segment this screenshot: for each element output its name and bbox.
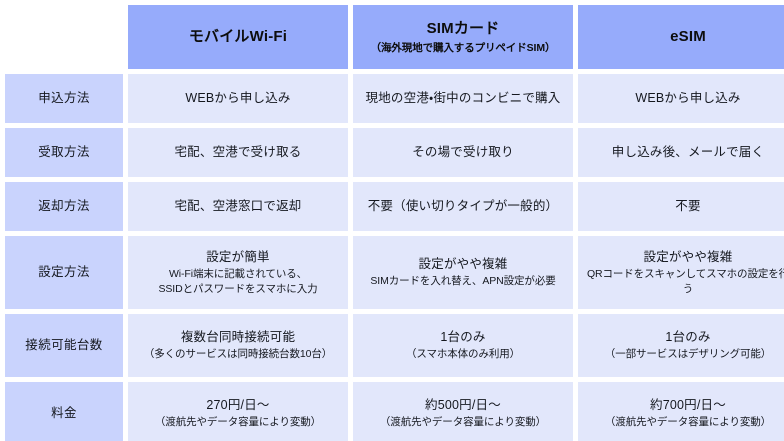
row-label: 返却方法 [5, 182, 123, 231]
cell-main-text: 270円/日〜 [134, 396, 342, 414]
table-row-application-method: 申込方法 WEBから申し込み 現地の空港・街中のコンビニで購入 WEBから申し込… [5, 74, 784, 123]
cell-sub-text: （多くのサービスは同時接続台数10台） [134, 347, 342, 362]
table-row-receiving-method: 受取方法 宅配、空港で受け取る その場で受け取り 申し込み後、メールで届く [5, 128, 784, 177]
row-label: 申込方法 [5, 74, 123, 123]
cell-sub-text: （一部サービスはデザリング可能） [584, 347, 784, 362]
table-row-return-method: 返却方法 宅配、空港窓口で返却 不要（使い切りタイプが一般的） 不要 [5, 182, 784, 231]
cell-sub-text: （渡航先やデータ容量により変動） [134, 415, 342, 430]
cell-application-method-sim-card: 現地の空港・街中のコンビニで購入 [353, 74, 573, 123]
cell-sub-text: SIMカードを入れ替え、APN設定が必要 [359, 274, 567, 289]
cell-return-method-sim-card: 不要（使い切りタイプが一般的） [353, 182, 573, 231]
comparison-table: モバイルWi-Fi SIMカード （海外現地で購入するプリペイドSIM） eSI… [0, 0, 784, 441]
table-header: モバイルWi-Fi SIMカード （海外現地で購入するプリペイドSIM） eSI… [5, 5, 784, 69]
table-row-price: 料金 270円/日〜 （渡航先やデータ容量により変動） 約500円/日〜 （渡航… [5, 382, 784, 441]
cell-setup-method-sim-card: 設定がやや複雑 SIMカードを入れ替え、APN設定が必要 [353, 236, 573, 309]
cell-price-esim: 約700円/日〜 （渡航先やデータ容量により変動） [578, 382, 784, 441]
table-row-setup-method: 設定方法 設定が簡単 Wi-Fi端末に記載されている、 SSIDとパスワードをス… [5, 236, 784, 309]
cell-sub-text: （スマホ本体のみ利用） [359, 347, 567, 362]
cell-main-text: 宅配、空港窓口で返却 [134, 197, 342, 215]
column-header-mobile-wifi: モバイルWi-Fi [128, 5, 348, 69]
row-label: 受取方法 [5, 128, 123, 177]
cell-application-method-esim: WEBから申し込み [578, 74, 784, 123]
cell-main-text: 設定がやや複雑 [359, 255, 567, 273]
cell-receiving-method-esim: 申し込み後、メールで届く [578, 128, 784, 177]
row-label: 接続可能台数 [5, 314, 123, 377]
cell-setup-method-esim: 設定がやや複雑 QRコードをスキャンしてスマホの設定を行う [578, 236, 784, 309]
column-header-title: モバイルWi-Fi [134, 26, 342, 48]
cell-receiving-method-mobile-wifi: 宅配、空港で受け取る [128, 128, 348, 177]
header-row: モバイルWi-Fi SIMカード （海外現地で購入するプリペイドSIM） eSI… [5, 5, 784, 69]
cell-main-text: 複数台同時接続可能 [134, 328, 342, 346]
cell-sub-text: SSIDとパスワードをスマホに入力 [134, 282, 342, 297]
cell-main-text: 約500円/日〜 [359, 396, 567, 414]
cell-sub-text: （渡航先やデータ容量により変動） [584, 415, 784, 430]
cell-main-text: 不要 [584, 197, 784, 215]
cell-main-text: 1台のみ [584, 328, 784, 346]
cell-sub-text: （渡航先やデータ容量により変動） [359, 415, 567, 430]
cell-application-method-mobile-wifi: WEBから申し込み [128, 74, 348, 123]
cell-price-sim-card: 約500円/日〜 （渡航先やデータ容量により変動） [353, 382, 573, 441]
cell-main-text: 現地の空港・街中のコンビニで購入 [359, 89, 567, 107]
table-body: 申込方法 WEBから申し込み 現地の空港・街中のコンビニで購入 WEBから申し込… [5, 74, 784, 441]
column-header-title: eSIM [584, 26, 784, 48]
cell-main-text: 設定がやや複雑 [584, 248, 784, 266]
cell-main-text: 不要（使い切りタイプが一般的） [359, 197, 567, 215]
cell-return-method-esim: 不要 [578, 182, 784, 231]
cell-sub-text: QRコードをスキャンしてスマホの設定を行う [584, 267, 784, 297]
table-row-connectable-devices: 接続可能台数 複数台同時接続可能 （多くのサービスは同時接続台数10台） 1台の… [5, 314, 784, 377]
column-header-subtitle: （海外現地で購入するプリペイドSIM） [359, 41, 567, 56]
row-label: 設定方法 [5, 236, 123, 309]
column-header-esim: eSIM [578, 5, 784, 69]
column-header-sim-card: SIMカード （海外現地で購入するプリペイドSIM） [353, 5, 573, 69]
cell-connectable-devices-sim-card: 1台のみ （スマホ本体のみ利用） [353, 314, 573, 377]
cell-receiving-method-sim-card: その場で受け取り [353, 128, 573, 177]
cell-main-text: その場で受け取り [359, 143, 567, 161]
column-header-title: SIMカード [359, 18, 567, 40]
cell-main-text: WEBから申し込み [584, 89, 784, 107]
row-label: 料金 [5, 382, 123, 441]
cell-main-text: 設定が簡単 [134, 248, 342, 266]
cell-price-mobile-wifi: 270円/日〜 （渡航先やデータ容量により変動） [128, 382, 348, 441]
cell-connectable-devices-esim: 1台のみ （一部サービスはデザリング可能） [578, 314, 784, 377]
cell-sub-text: Wi-Fi端末に記載されている、 [134, 267, 342, 282]
corner-cell [5, 5, 123, 69]
cell-connectable-devices-mobile-wifi: 複数台同時接続可能 （多くのサービスは同時接続台数10台） [128, 314, 348, 377]
cell-return-method-mobile-wifi: 宅配、空港窓口で返却 [128, 182, 348, 231]
cell-setup-method-mobile-wifi: 設定が簡単 Wi-Fi端末に記載されている、 SSIDとパスワードをスマホに入力 [128, 236, 348, 309]
cell-main-text: 宅配、空港で受け取る [134, 143, 342, 161]
cell-main-text: WEBから申し込み [134, 89, 342, 107]
cell-main-text: 1台のみ [359, 328, 567, 346]
cell-main-text: 申し込み後、メールで届く [584, 143, 784, 161]
cell-main-text: 約700円/日〜 [584, 396, 784, 414]
